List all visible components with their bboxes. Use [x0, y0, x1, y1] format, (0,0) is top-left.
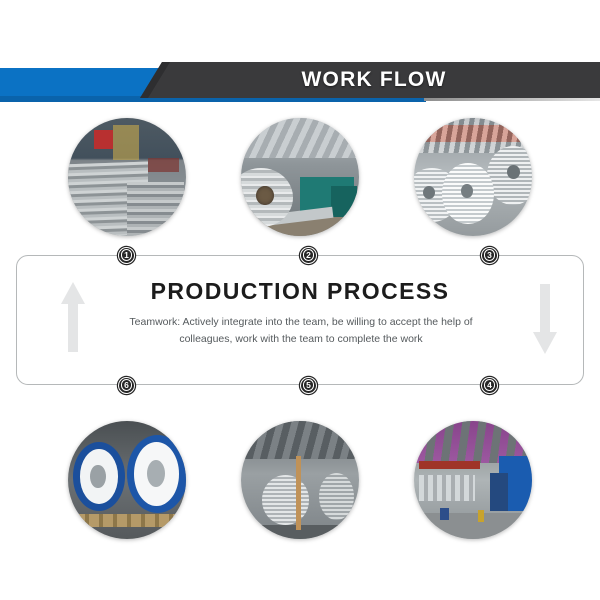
- photo-roof: [241, 421, 359, 459]
- step-badge-label: 4: [487, 381, 492, 390]
- photo-coil: [319, 473, 354, 520]
- step-image-4[interactable]: [414, 421, 532, 539]
- photo-floor: [414, 513, 532, 539]
- photo-detail: [440, 508, 449, 520]
- step-image-6[interactable]: [68, 421, 186, 539]
- step-badge-3[interactable]: 3: [481, 247, 498, 264]
- photo-coil-hub: [147, 460, 165, 487]
- photo-detail: [478, 510, 484, 523]
- page-title: WORK FLOW: [140, 62, 600, 98]
- step-badge-label: 1: [124, 251, 129, 260]
- polished-coils-photo: [414, 118, 532, 236]
- photo-roof: [241, 118, 359, 158]
- photo-machine: [490, 473, 509, 511]
- production-process-box: PRODUCTION PROCESS Teamwork: Actively in…: [16, 255, 584, 385]
- photo-machine: [331, 186, 357, 219]
- blue-wrapped-coils-photo: [68, 421, 186, 539]
- step-badge-5[interactable]: 5: [300, 377, 317, 394]
- ingot-stacks-photo: [68, 118, 186, 236]
- photo-coil-hub: [90, 465, 105, 489]
- workflow-page: WORK FLOW: [0, 0, 600, 600]
- photo-accent: [94, 130, 113, 149]
- step-badge-label: 5: [306, 381, 311, 390]
- photo-accent: [148, 158, 179, 172]
- production-process-description: Teamwork: Actively integrate into the te…: [127, 314, 475, 347]
- photo-pallet: [75, 514, 176, 527]
- factory-hall-photo: [414, 421, 532, 539]
- down-arrow-icon: [530, 282, 560, 356]
- step-image-1[interactable]: [68, 118, 186, 236]
- step-badge-4[interactable]: 4: [481, 377, 498, 394]
- step-badge-label: 3: [487, 251, 492, 260]
- step-badge-2[interactable]: 2: [300, 247, 317, 264]
- production-process-title: PRODUCTION PROCESS: [17, 278, 583, 305]
- step-badge-label: 2: [306, 251, 311, 260]
- step-image-2[interactable]: [241, 118, 359, 236]
- step-image-3[interactable]: [414, 118, 532, 236]
- warehouse-aisle-photo: [241, 421, 359, 539]
- step-badge-label: 6: [124, 381, 129, 390]
- photo-accent: [113, 125, 139, 160]
- header-banner: WORK FLOW: [0, 62, 600, 108]
- step-badge-1[interactable]: 1: [118, 247, 135, 264]
- step-badge-6[interactable]: 6: [118, 377, 135, 394]
- step-image-5[interactable]: [241, 421, 359, 539]
- photo-wall: [419, 475, 476, 501]
- up-arrow-icon: [58, 280, 88, 354]
- rolling-machine-photo: [241, 118, 359, 236]
- photo-crane-beam: [419, 461, 480, 469]
- photo-post: [296, 456, 300, 529]
- photo-coil: [262, 475, 309, 525]
